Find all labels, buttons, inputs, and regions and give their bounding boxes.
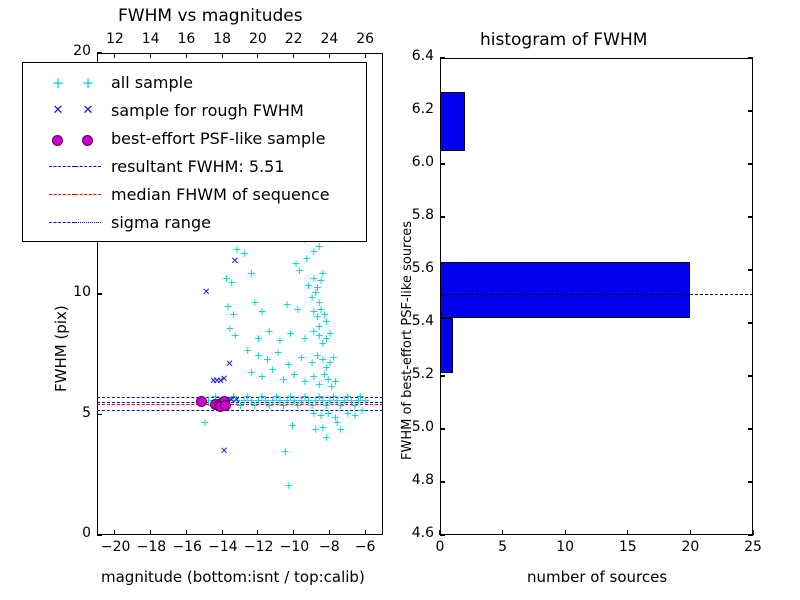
- x-tick-label-top: 20: [244, 31, 272, 47]
- circle-icon: [82, 135, 93, 146]
- legend-item-label: sample for rough FWHM: [111, 97, 304, 125]
- marker-plus: +: [286, 328, 295, 339]
- marker-plus: +: [290, 369, 299, 380]
- x-tick-label-bottom: −18: [137, 539, 165, 555]
- x-tick-label-top: 22: [280, 31, 308, 47]
- marker-plus: +: [288, 420, 297, 431]
- left-panel-title: FWHM vs magnitudes: [118, 6, 303, 26]
- dashdot-line-icon: [49, 222, 75, 223]
- plus-icon: +: [51, 69, 65, 97]
- marker-plus: +: [293, 304, 302, 315]
- marker-plus: +: [322, 432, 331, 443]
- marker-plus: +: [257, 371, 266, 382]
- x-tick-label-top: 18: [208, 31, 236, 47]
- marker-cross: ✕: [202, 288, 210, 298]
- histogram-plot-area: [440, 58, 753, 535]
- marker-plus: +: [265, 326, 274, 337]
- legend-item: best-effort PSF-like sample: [23, 125, 366, 153]
- x-tick-label-bottom: −10: [280, 539, 308, 555]
- legend-item-label: best-effort PSF-like sample: [111, 125, 325, 153]
- marker-plus: +: [336, 424, 345, 435]
- x-tick-label-top: 14: [137, 31, 165, 47]
- dashed-line-icon: [75, 194, 101, 195]
- x-tick-label-right: 15: [614, 539, 642, 555]
- dashed-line-icon: [75, 166, 101, 167]
- marker-plus: +: [243, 345, 252, 356]
- legend-item-label: resultant FWHM: 5.51: [111, 153, 285, 181]
- marker-plus: +: [300, 376, 309, 387]
- marker-plus: +: [315, 391, 324, 402]
- x-tick-label-top: 12: [101, 31, 129, 47]
- marker-cross: ✕: [231, 257, 239, 267]
- circle-icon: [52, 135, 63, 146]
- marker-plus: +: [325, 328, 334, 339]
- dashed-line-icon: [49, 194, 75, 195]
- marker-plus: +: [300, 333, 309, 344]
- x-tick-label-bottom: −14: [208, 539, 236, 555]
- marker-plus: +: [243, 391, 252, 402]
- marker-plus: +: [356, 391, 365, 402]
- marker-cross: ✕: [220, 447, 228, 457]
- histogram-bar: [440, 262, 690, 318]
- marker-plus: +: [247, 367, 256, 378]
- x-tick-label-top: 24: [315, 31, 343, 47]
- marker-plus: +: [331, 376, 340, 387]
- left-x-axis-label: magnitude (bottom:isnt / top:calib): [101, 568, 365, 586]
- marker-circle: [196, 396, 207, 407]
- marker-plus: +: [227, 277, 236, 288]
- histogram-bar: [440, 318, 453, 374]
- y-tick-label-right: 6.2: [398, 101, 434, 117]
- marker-plus: +: [257, 391, 266, 402]
- marker-plus: +: [247, 268, 256, 279]
- marker-plus: +: [254, 333, 263, 344]
- legend-item: median FHWM of sequence: [23, 181, 366, 209]
- marker-plus: +: [229, 309, 238, 320]
- x-tick-label-bottom: −12: [244, 539, 272, 555]
- plus-icon: +: [81, 69, 95, 97]
- y-tick-label-right: 6.0: [398, 154, 434, 170]
- marker-plus: +: [268, 364, 277, 375]
- marker-cross: ✕: [225, 360, 233, 370]
- marker-plus: +: [272, 391, 281, 402]
- x-tick-label-right: 0: [426, 539, 454, 555]
- marker-plus: +: [200, 417, 209, 428]
- marker-plus: +: [329, 352, 338, 363]
- y-tick-label-right: 4.8: [398, 472, 434, 488]
- left-y-axis-label: FWHM (pix): [52, 305, 70, 392]
- x-tick-label-bottom: −8: [315, 539, 343, 555]
- x-tick-label-bottom: −20: [101, 539, 129, 555]
- legend-item: ✕✕sample for rough FWHM: [23, 97, 366, 125]
- x-tick-label-right: 25: [739, 539, 767, 555]
- x-tick-label-right: 10: [551, 539, 579, 555]
- y-tick-label-left: 10: [63, 284, 91, 300]
- legend-item-label: sigma range: [111, 209, 211, 237]
- marker-plus: +: [254, 350, 263, 361]
- marker-plus: +: [318, 268, 327, 279]
- marker-plus: +: [315, 241, 324, 252]
- marker-plus: +: [286, 391, 295, 402]
- right-panel-title: histogram of FWHM: [480, 30, 647, 50]
- cross-icon: ✕: [51, 97, 65, 125]
- x-tick-label-top: 16: [172, 31, 200, 47]
- legend-box: ++all sample✕✕sample for rough FWHMbest-…: [22, 62, 367, 242]
- y-tick-label-left: 20: [63, 43, 91, 59]
- marker-plus: +: [295, 265, 304, 276]
- legend-item: resultant FWHM: 5.51: [23, 153, 366, 181]
- marker-plus: +: [329, 391, 338, 402]
- marker-plus: +: [300, 391, 309, 402]
- legend-item: ++all sample: [23, 69, 366, 97]
- dashed-line-icon: [49, 166, 75, 167]
- marker-circle: [220, 400, 231, 411]
- y-tick-label-right: 6.4: [398, 48, 434, 64]
- x-tick-label-bottom: −16: [172, 539, 200, 555]
- x-tick-label-right: 20: [676, 539, 704, 555]
- x-tick-label-bottom: −6: [351, 539, 379, 555]
- marker-plus: +: [257, 306, 266, 317]
- marker-plus: +: [358, 405, 367, 416]
- histogram-bar: [440, 92, 465, 150]
- marker-plus: +: [297, 352, 306, 363]
- right-x-axis-label: number of sources: [527, 568, 667, 586]
- legend-item-label: all sample: [111, 69, 193, 97]
- x-tick-label-right: 5: [489, 539, 517, 555]
- y-tick-label-left: 5: [63, 405, 91, 421]
- marker-plus: +: [240, 248, 249, 259]
- marker-cross: ✕: [209, 377, 217, 387]
- dashdot-line-icon: [75, 222, 101, 223]
- marker-plus: +: [275, 335, 284, 346]
- x-tick-label-top: 26: [351, 31, 379, 47]
- legend-item-label: median FHWM of sequence: [111, 181, 330, 209]
- histogram-reference-line: [440, 294, 753, 295]
- marker-plus: +: [281, 446, 290, 457]
- marker-plus: +: [282, 299, 291, 310]
- figure-canvas: FWHM vs magnitudes 1214161820222426 −20−…: [0, 0, 800, 600]
- marker-plus: +: [343, 391, 352, 402]
- cross-icon: ✕: [81, 97, 95, 125]
- right-y-axis-label: FWHM of best-effort PSF-like sources: [400, 221, 415, 460]
- legend-item: sigma range: [23, 209, 366, 237]
- y-tick-label-right: 4.6: [398, 525, 434, 541]
- marker-plus: +: [284, 480, 293, 491]
- marker-plus: +: [274, 347, 283, 358]
- marker-plus: +: [231, 330, 240, 341]
- y-tick-label-left: 0: [63, 525, 91, 541]
- marker-plus: +: [279, 374, 288, 385]
